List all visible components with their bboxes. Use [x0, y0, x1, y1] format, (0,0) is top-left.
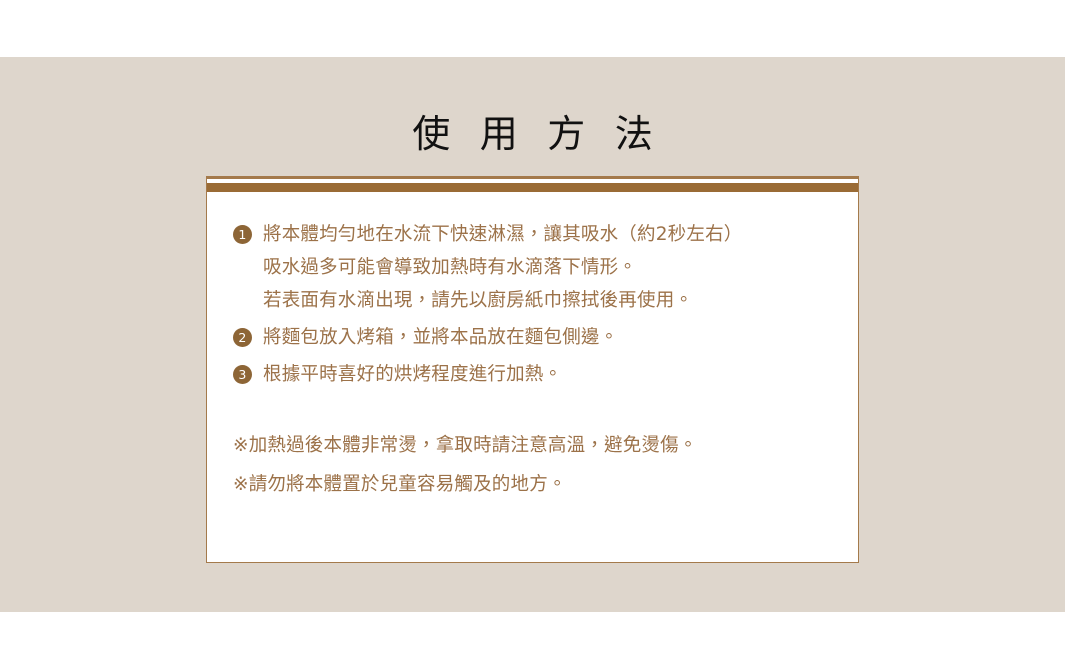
- steps-list: 1 將本體均勻地在水流下快速淋濕，讓其吸水（約2秒左右） 吸水過多可能會導致加熱…: [231, 218, 838, 391]
- list-item: 1 將本體均勻地在水流下快速淋濕，讓其吸水（約2秒左右） 吸水過多可能會導致加熱…: [231, 218, 838, 317]
- warning-note: ※請勿將本體置於兒童容易觸及的地方。: [231, 468, 838, 501]
- step-text-line: 將本體均勻地在水流下快速淋濕，讓其吸水（約2秒左右）: [263, 218, 838, 251]
- notes-list: ※加熱過後本體非常燙，拿取時請注意高溫，避免燙傷。 ※請勿將本體置於兒童容易觸及…: [231, 429, 838, 501]
- step-text-line: 若表面有水滴出現，請先以廚房紙巾擦拭後再使用。: [263, 284, 838, 317]
- step-text-line: 將麵包放入烤箱，並將本品放在麵包側邊。: [263, 321, 838, 354]
- step-number-badge: 3: [233, 365, 252, 384]
- panel-top-accent-bar: [207, 183, 858, 192]
- list-item: 3 根據平時喜好的烘烤程度進行加熱。: [231, 358, 838, 391]
- warning-note: ※加熱過後本體非常燙，拿取時請注意高溫，避免燙傷。: [231, 429, 838, 462]
- instructions-panel: 1 將本體均勻地在水流下快速淋濕，讓其吸水（約2秒左右） 吸水過多可能會導致加熱…: [206, 176, 859, 563]
- step-number-badge: 2: [233, 328, 252, 347]
- panel-body: 1 將本體均勻地在水流下快速淋濕，讓其吸水（約2秒左右） 吸水過多可能會導致加熱…: [207, 192, 858, 562]
- step-number-badge: 1: [233, 225, 252, 244]
- list-item: 2 將麵包放入烤箱，並將本品放在麵包側邊。: [231, 321, 838, 354]
- notes-spacer: [231, 395, 838, 429]
- panel-top-hairline: [207, 177, 858, 179]
- step-text-line: 根據平時喜好的烘烤程度進行加熱。: [263, 358, 838, 391]
- page-root: 使 用 方 法 1 將本體均勻地在水流下快速淋濕，讓其吸水（約2秒左右） 吸水過…: [0, 0, 1065, 670]
- page-title: 使 用 方 法: [0, 110, 1065, 160]
- step-text-line: 吸水過多可能會導致加熱時有水滴落下情形。: [263, 251, 838, 284]
